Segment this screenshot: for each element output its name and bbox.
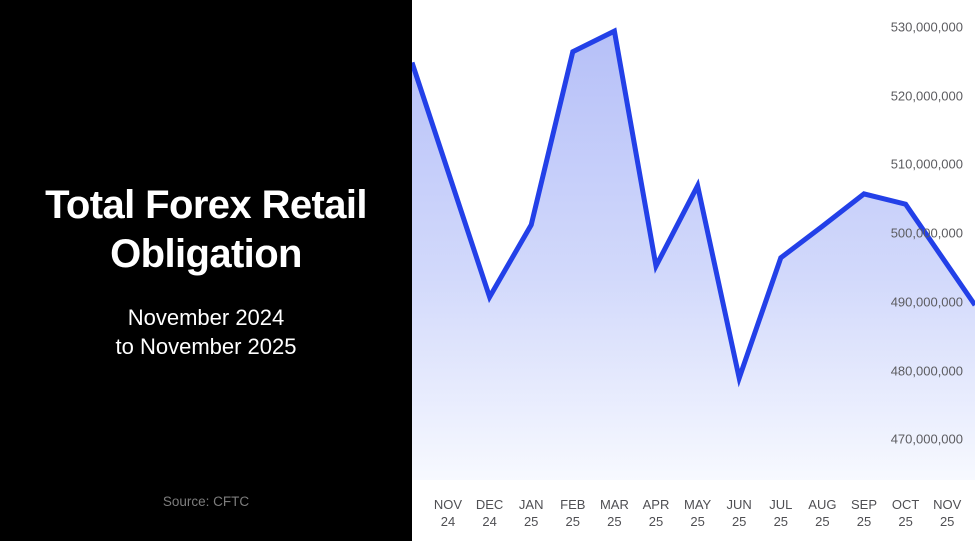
title-panel: Total Forex Retail Obligation November 2… — [0, 0, 412, 541]
area-fill — [412, 31, 975, 480]
x-axis-tick-label: AUG 25 — [808, 496, 836, 531]
x-axis-tick-label: NOV 24 — [434, 496, 462, 531]
x-axis-tick-label: JUL 25 — [769, 496, 792, 531]
x-axis-tick-label: APR 25 — [643, 496, 670, 531]
page-subtitle: November 2024 to November 2025 — [0, 303, 412, 362]
x-axis-tick-label: OCT 25 — [892, 496, 919, 531]
x-axis-tick-label: JAN 25 — [519, 496, 544, 531]
source-label: Source: CFTC — [0, 494, 412, 509]
infographic-screen: Total Forex Retail Obligation November 2… — [0, 0, 975, 541]
x-axis-tick-label: MAY 25 — [684, 496, 711, 531]
x-axis-tick-label: NOV 25 — [933, 496, 961, 531]
chart-panel: 470,000,000480,000,000490,000,000500,000… — [412, 0, 975, 541]
page-title: Total Forex Retail Obligation — [0, 181, 412, 279]
area-chart — [412, 0, 975, 541]
x-axis-tick-label: SEP 25 — [851, 496, 877, 531]
x-axis-tick-label: JUN 25 — [727, 496, 752, 531]
x-axis-tick-label: FEB 25 — [560, 496, 585, 531]
x-axis-tick-label: DEC 24 — [476, 496, 503, 531]
x-axis-tick-label: MAR 25 — [600, 496, 629, 531]
x-axis: NOV 24DEC 24JAN 25FEB 25MAR 25APR 25MAY … — [412, 489, 975, 531]
title-block: Total Forex Retail Obligation November 2… — [0, 181, 412, 361]
